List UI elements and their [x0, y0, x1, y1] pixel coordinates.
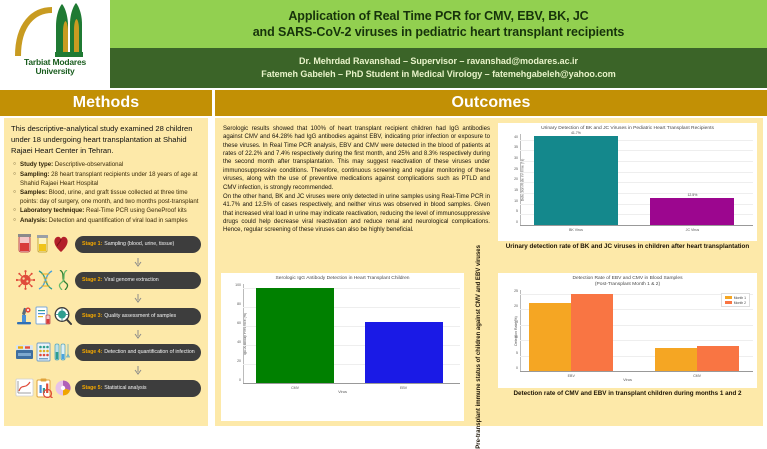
x-tick: BK Virus	[569, 228, 583, 232]
legend-item-month-2: Month 2	[725, 301, 746, 305]
line-chart-icon	[15, 378, 34, 398]
bar-jc-virus: 12.5%	[650, 198, 734, 225]
x-tick: EBV	[568, 374, 575, 378]
legend-item-month-1: Month 1	[725, 296, 746, 300]
y-tick: 60	[237, 321, 241, 325]
x-axis-label: Virus	[221, 389, 464, 394]
stage-number: Stage 4:	[82, 349, 102, 355]
methods-heading: Methods	[73, 94, 139, 112]
bar-cmv-month-1	[655, 348, 697, 371]
workflow-arrow	[75, 294, 201, 303]
y-tick: 0	[239, 378, 241, 382]
section-header-methods: Methods	[0, 90, 212, 116]
methods-bullet: Laboratory technique: Real-Time PCR usin…	[11, 207, 201, 216]
bullet-text: Descriptive-observational	[53, 161, 123, 168]
y-tick: 25	[514, 167, 518, 171]
outcomes-heading: Outcomes	[451, 94, 530, 112]
chart-title: Serologic IgG Antibody Detection in Hear…	[221, 273, 464, 282]
y-tick: 40	[237, 340, 241, 344]
workflow-icons	[11, 339, 75, 365]
dna-helix-icon	[56, 270, 71, 290]
x-tick: CMV	[291, 386, 299, 390]
y-tick: 20	[514, 177, 518, 181]
legend-swatch-icon	[725, 301, 732, 304]
workflow-pill-stage-4: Stage 4: Detection and quantification of…	[75, 344, 201, 361]
y-tick: 25	[514, 289, 518, 293]
bullet-text: Blood, urine, and graft tissue collected…	[20, 189, 198, 205]
stage-number: Stage 1:	[82, 241, 102, 247]
y-tick: 80	[237, 302, 241, 306]
y-tick: 40	[514, 135, 518, 139]
methods-bullet: Sampling: 28 heart transplant recipients…	[11, 171, 201, 189]
stage-label: Statistical analysis	[104, 385, 146, 391]
outcomes-column: Serologic results showed that 100% of he…	[215, 118, 767, 426]
stage-label: Sampling (blood, urine, tissue)	[104, 241, 174, 247]
chart-title-line-1: Detection Rate of EBV and CMV in Blood S…	[498, 273, 757, 282]
x-tick: CMV	[693, 374, 701, 378]
magnifier-virus-icon	[53, 306, 72, 326]
heart-tissue-icon	[52, 234, 70, 254]
bullet-text: Detection and quantification of viral lo…	[47, 217, 188, 224]
y-tick: 20	[237, 359, 241, 363]
stage-number: Stage 5:	[82, 385, 102, 391]
legend-label: Month 2	[734, 301, 746, 305]
outcomes-paragraph-1: Serologic results showed that 100% of he…	[223, 125, 490, 192]
pcr-plate-icon	[35, 342, 52, 362]
blood-tube-icon	[16, 234, 33, 254]
workflow-pill-stage-3: Stage 3: Quality assessment of samples	[75, 308, 201, 325]
methods-bullet-list: Study type: Descriptive-observational Sa…	[11, 161, 201, 225]
outcomes-paragraph-2: On the other hand, BK and JC viruses wer…	[223, 193, 490, 235]
section-header-outcomes: Outcomes	[215, 90, 767, 116]
arrow-down-icon	[133, 294, 143, 303]
methods-bullet: Samples: Blood, urine, and graft tissue …	[11, 189, 201, 207]
y-tick: 35	[514, 145, 518, 149]
arrow-down-icon	[133, 366, 143, 375]
bar-ebv-month-2	[571, 294, 613, 371]
lab-report-icon	[34, 306, 52, 326]
y-tick: 10	[514, 199, 518, 203]
y-tick: 30	[514, 156, 518, 160]
pie-chart-icon	[54, 378, 72, 398]
serologic-chart-block: Serologic IgG Antibody Detection in Hear…	[221, 273, 493, 421]
stage-label: Viral genome extraction	[104, 277, 158, 283]
y-axis-line	[520, 290, 521, 372]
stage-number: Stage 2:	[82, 277, 102, 283]
methods-intro: This descriptive-analytical study examin…	[11, 124, 201, 156]
workflow-step: Stage 1: Sampling (blood, urine, tissue)	[11, 231, 201, 258]
poster-title-line-2: and SARS-CoV-2 viruses in pediatric hear…	[253, 24, 625, 41]
poster-title-band: Application of Real Time PCR for CMV, EB…	[110, 0, 767, 48]
x-tick: EBV	[400, 386, 407, 390]
university-logo-icon	[12, 2, 98, 60]
stage-label: Detection and quantification of infectio…	[104, 349, 194, 355]
bar-value-label: 41.7%	[534, 131, 618, 135]
serologic-chart-caption: Pre-transplant immune status of children…	[467, 273, 493, 421]
outcomes-text: Serologic results showed that 100% of he…	[221, 123, 493, 270]
author-line-2: Fatemeh Gabeleh – PhD Student in Medical…	[261, 68, 615, 82]
stage-number: Stage 3:	[82, 313, 102, 319]
urine-sample-icon	[34, 234, 51, 254]
workflow-pill-stage-5: Stage 5: Statistical analysis	[75, 380, 201, 397]
methods-card: This descriptive-analytical study examin…	[4, 118, 208, 426]
workflow-icons	[11, 303, 75, 329]
y-tick: 0	[516, 220, 518, 224]
analysis-clipboard-icon	[35, 378, 53, 398]
workflow-step: Stage 2: Viral genome extraction	[11, 267, 201, 294]
bar-cmv-month-2	[697, 346, 739, 372]
x-axis-line	[520, 371, 753, 372]
workflow-pill-stage-1: Stage 1: Sampling (blood, urine, tissue)	[75, 236, 201, 253]
dna-strand-icon	[36, 270, 55, 290]
university-logo-text: Tarbiat Modares University	[24, 58, 86, 75]
x-axis-line	[520, 225, 753, 226]
methods-bullet: Analysis: Detection and quantification o…	[11, 217, 201, 226]
x-tick: JC Virus	[686, 228, 700, 232]
logo-line-2: University	[24, 67, 86, 76]
chart-legend: Month 1 Month 2	[721, 293, 750, 307]
y-tick: 5	[516, 209, 518, 213]
bullet-term: Laboratory technique:	[20, 207, 84, 214]
y-axis-line	[520, 134, 521, 226]
methods-column: This descriptive-analytical study examin…	[0, 118, 212, 426]
blood-chart-caption: Detection rate of CMV and EBV in transpl…	[498, 388, 757, 398]
workflow-arrow	[75, 258, 201, 267]
y-tick: 0	[516, 366, 518, 370]
university-logo: Tarbiat Modares University	[0, 0, 110, 88]
y-tick: 20	[514, 304, 518, 308]
serologic-igg-chart: Serologic IgG Antibody Detection in Hear…	[221, 273, 464, 421]
urinary-chart-caption: Urinary detection rate of BK and JC viru…	[498, 241, 757, 251]
x-axis-line	[243, 383, 460, 384]
blood-detection-chart: Detection Rate of EBV and CMV in Blood S…	[498, 273, 757, 388]
bar-cmv	[256, 288, 334, 383]
workflow-step: Stage 4: Detection and quantification of…	[11, 339, 201, 366]
workflow-step: Stage 5: Statistical analysis	[11, 375, 201, 402]
arrow-down-icon	[133, 258, 143, 267]
plot-area: IgG Antibody Presence (%) 0 20 40 60	[243, 284, 460, 384]
workflow-arrow	[75, 330, 201, 339]
methods-bullet: Study type: Descriptive-observational	[11, 161, 201, 170]
virus-icon	[16, 270, 35, 290]
poster-root: Tarbiat Modares University Application o…	[0, 0, 767, 424]
bullet-term: Samples:	[20, 189, 47, 196]
pipette-tubes-icon	[53, 342, 71, 362]
microscope-icon	[15, 306, 33, 326]
chart-title-line-2: (Post-Transplant Month 1 & 2)	[498, 282, 757, 288]
y-tick: 15	[514, 320, 518, 324]
header-text-block: Application of Real Time PCR for CMV, EB…	[110, 0, 767, 88]
poster-body: This descriptive-analytical study examin…	[0, 118, 767, 426]
workflow-step: Stage 3: Quality assessment of samples	[11, 303, 201, 330]
legend-label: Month 1	[734, 296, 746, 300]
bullet-term: Sampling:	[20, 171, 49, 178]
workflow-icons	[11, 231, 75, 257]
workflow-pill-stage-2: Stage 2: Viral genome extraction	[75, 272, 201, 289]
bar-bk-virus: 41.7%	[534, 136, 618, 225]
workflow-icons	[11, 375, 75, 401]
bullet-term: Study type:	[20, 161, 53, 168]
y-axis-line	[243, 284, 244, 384]
y-tick: 100	[235, 283, 241, 287]
x-axis-label: Virus	[498, 377, 757, 382]
urinary-detection-chart: Urinary Detection of BK and JC Viruses i…	[498, 123, 757, 241]
gridline	[520, 294, 753, 295]
workflow-arrow	[75, 366, 201, 375]
poster-header: Tarbiat Modares University Application o…	[0, 0, 767, 88]
pcr-machine-icon	[15, 342, 34, 362]
bullet-text: Real-Time PCR using GeneProof kits	[84, 207, 186, 214]
blood-chart-block: Detection Rate of EBV and CMV in Blood S…	[498, 273, 757, 421]
bullet-term: Analysis:	[20, 217, 47, 224]
poster-title-line-1: Application of Real Time PCR for CMV, EB…	[288, 8, 588, 25]
bar-ebv	[365, 322, 443, 383]
y-tick: 15	[514, 188, 518, 192]
author-line-1: Dr. Mehrdad Ravanshad – Supervisor – rav…	[299, 55, 578, 69]
section-header-row: Methods Outcomes	[0, 90, 767, 116]
y-tick: 5	[516, 351, 518, 355]
arrow-down-icon	[133, 330, 143, 339]
outcomes-card: Serologic results showed that 100% of he…	[215, 118, 763, 426]
urinary-chart-block: Urinary Detection of BK and JC Viruses i…	[498, 123, 757, 270]
plot-area: Detection Rate (%) 0 5 10 15	[520, 290, 753, 372]
methods-workflow-diagram: Stage 1: Sampling (blood, urine, tissue)	[11, 231, 201, 402]
legend-swatch-icon	[725, 296, 732, 299]
plot-area: Detection Rate in Urine (%) 0	[520, 134, 753, 226]
workflow-icons	[11, 267, 75, 293]
stage-label: Quality assessment of samples	[104, 313, 176, 319]
bar-value-label: 12.5%	[650, 193, 734, 197]
y-tick: 10	[514, 335, 518, 339]
poster-authors-band: Dr. Mehrdad Ravanshad – Supervisor – rav…	[110, 48, 767, 88]
serologic-caption-text: Pre-transplant immune status of children…	[476, 245, 484, 449]
bar-ebv-month-1	[529, 303, 571, 372]
